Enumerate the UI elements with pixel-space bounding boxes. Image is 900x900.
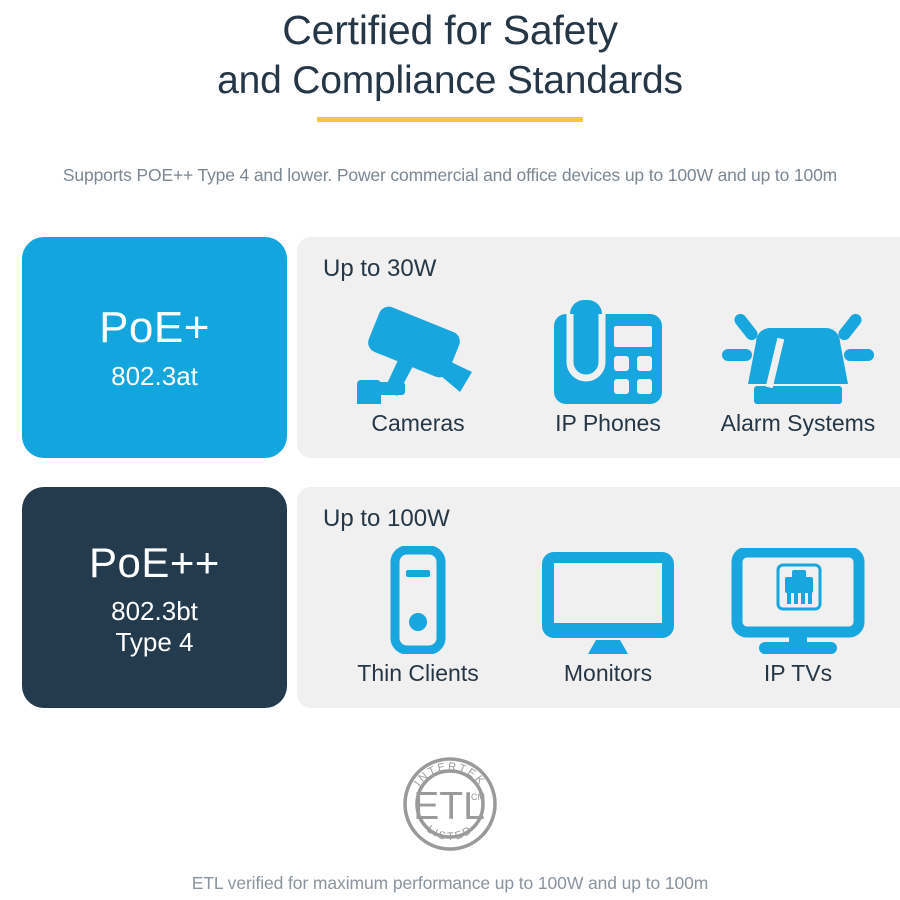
footer-note: ETL verified for maximum performance up … — [0, 872, 900, 894]
device-panel-30w: Up to 30W — [297, 237, 900, 458]
device-label: Thin Clients — [357, 660, 478, 687]
etl-superscript-text: CM — [471, 792, 485, 802]
device-label: Alarm Systems — [721, 410, 876, 437]
device-item: Alarm Systems — [703, 296, 893, 437]
page-title-line-1: Certified for Safety — [0, 4, 900, 56]
monitor-icon — [540, 546, 676, 654]
device-item: Thin Clients — [323, 546, 513, 687]
device-list: Thin Clients Monitors — [323, 535, 893, 687]
etl-certification-mark: INTERTEK LISTED ETL CM — [394, 748, 506, 860]
title-underline-rule — [317, 117, 583, 122]
poe-plus-badge: PoE+ 802.3at — [22, 237, 287, 458]
alarm-siren-icon — [722, 296, 874, 404]
badge-type: Type 4 — [115, 627, 193, 658]
device-panel-100w: Up to 100W Thin Clients — [297, 487, 900, 708]
device-label: IP Phones — [555, 410, 661, 437]
device-item: Monitors — [513, 546, 703, 687]
device-item: IP Phones — [513, 296, 703, 437]
device-item: Cameras — [323, 296, 513, 437]
device-list: Cameras — [323, 285, 893, 437]
device-item: IP TVs — [703, 546, 893, 687]
power-heading: Up to 100W — [323, 505, 893, 533]
page-title-line-2: and Compliance Standards — [0, 56, 900, 106]
device-label: Monitors — [564, 660, 652, 687]
poe-tier-row: PoE+ 802.3at Up to 30W — [22, 237, 878, 458]
poe-tier-row: PoE++ 802.3bt Type 4 Up to 100W Thin Cli… — [22, 487, 878, 708]
power-heading: Up to 30W — [323, 255, 893, 283]
desk-phone-icon — [552, 296, 664, 404]
badge-title: PoE+ — [99, 303, 210, 353]
page-footer: INTERTEK LISTED ETL CM ETL verified for … — [0, 748, 900, 894]
ip-tv-icon — [731, 546, 865, 654]
page-header: Certified for Safety and Compliance Stan… — [0, 0, 900, 186]
thin-client-tower-icon — [390, 546, 446, 654]
badge-title: PoE++ — [89, 538, 220, 588]
subtitle-text: Supports POE++ Type 4 and lower. Power c… — [0, 164, 900, 186]
badge-standard: 802.3bt — [111, 596, 198, 627]
poe-plus-plus-badge: PoE++ 802.3bt Type 4 — [22, 487, 287, 708]
security-camera-icon — [353, 296, 483, 404]
badge-standard: 802.3at — [111, 361, 198, 392]
poe-tier-rows: PoE+ 802.3at Up to 30W — [22, 237, 878, 708]
device-label: Cameras — [371, 410, 464, 437]
device-label: IP TVs — [764, 660, 832, 687]
